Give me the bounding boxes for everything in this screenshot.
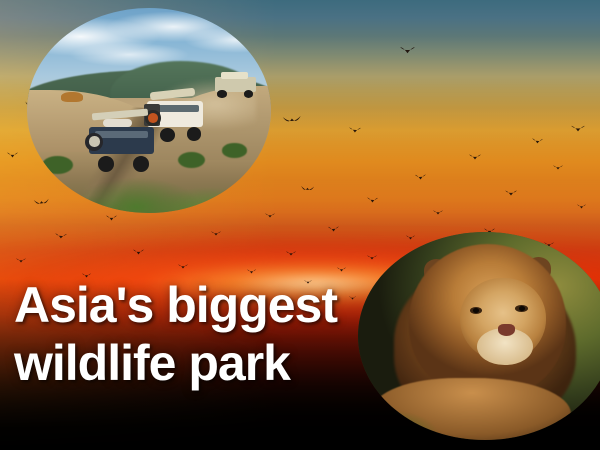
safari-jeep-far — [215, 72, 256, 97]
jeep-wheel — [160, 128, 175, 142]
jeep-roof — [221, 72, 248, 79]
page-title: Asia's biggest wildlife park — [14, 276, 534, 392]
safari-bush — [42, 156, 74, 174]
lion-foreground-grass — [363, 411, 439, 440]
safari-bush — [222, 143, 246, 157]
safari-bush — [178, 152, 205, 168]
jeep-wheel — [187, 127, 202, 141]
jeep-wheel — [244, 90, 253, 97]
safari-foreground-grass — [47, 152, 271, 214]
safari-jeeps-photo — [27, 8, 271, 213]
jeep-passengers — [103, 119, 132, 128]
jeep-window-strip — [95, 131, 148, 138]
spare-tyre-hub — [89, 136, 99, 146]
jeep-wheel — [217, 90, 226, 97]
banner-image: Asia's biggest wildlife park — [0, 0, 600, 450]
